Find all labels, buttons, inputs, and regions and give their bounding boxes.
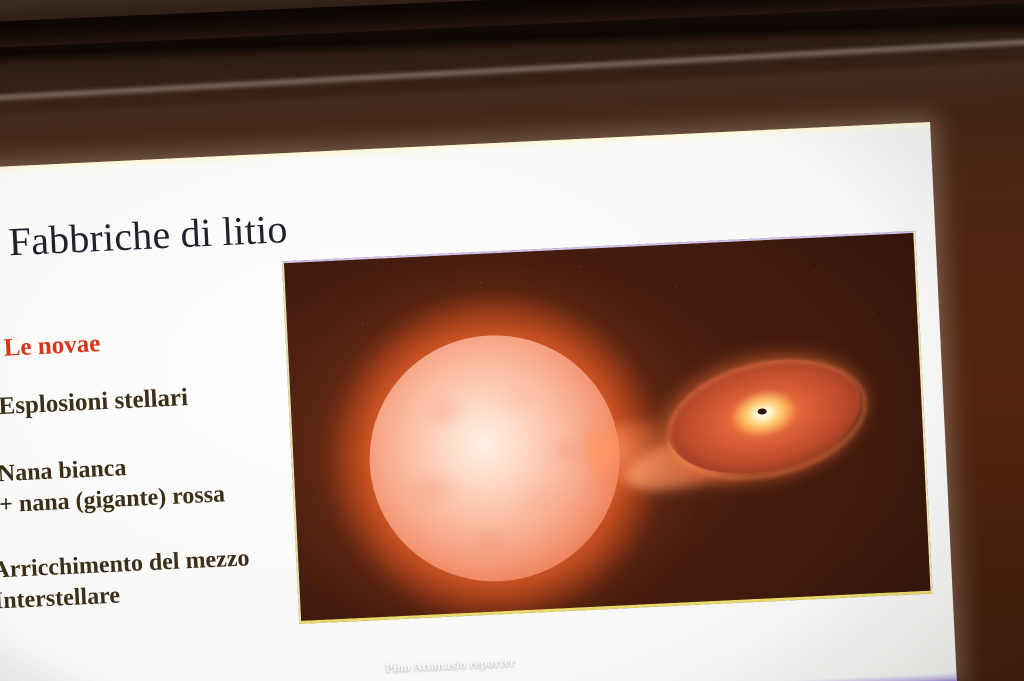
bullet-arricchimento-group: Arricchimento del mezzo Interstellare (0, 543, 252, 617)
photo-frame: Fabbriche di litio Le novae Esplosioni s… (0, 0, 1024, 681)
bullet-le-novae: Le novae (3, 328, 101, 365)
projection-screen: Fabbriche di litio Le novae Esplosioni s… (0, 122, 957, 681)
bullet-nana-bianca-group: Nana bianca + nana (gigante) rossa (0, 448, 226, 520)
nova-illustration (282, 231, 933, 624)
